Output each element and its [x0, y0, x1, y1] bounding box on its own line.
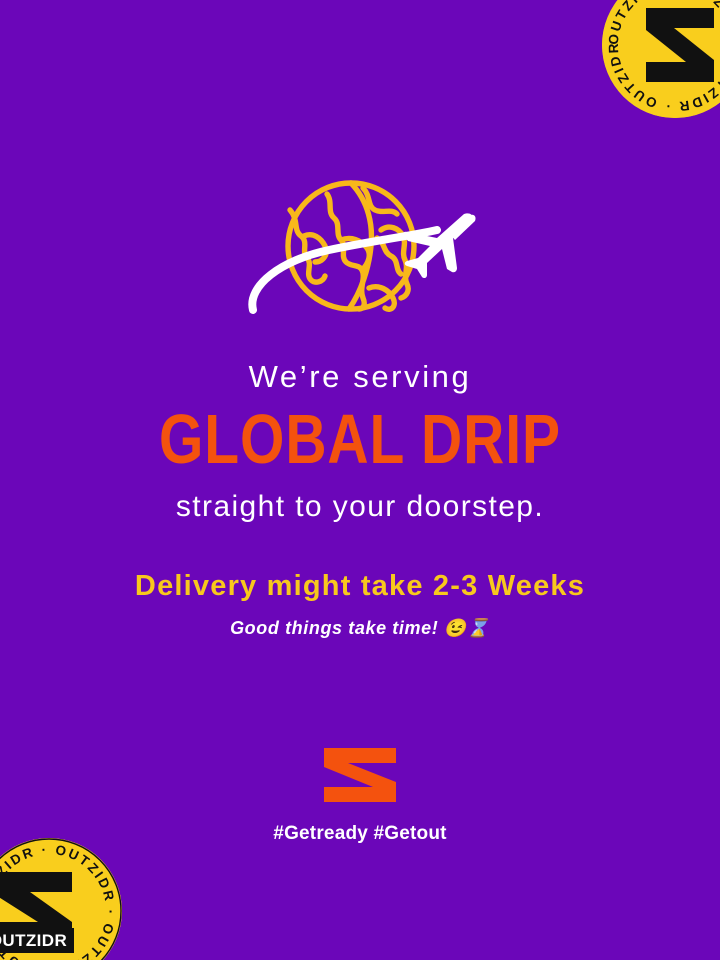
seal-badge-bottom-left: OUTZIDR · OUTZIDR · OUTZIDR · OUTZIDR · … — [0, 838, 122, 960]
subline-text: straight to your doorstep. — [0, 490, 720, 523]
tagline-text: Good things take time! 😉⌛ — [0, 619, 720, 639]
seal-wordmark-label: OUTZIDR — [0, 931, 67, 950]
seal-wordmark-bottom-left: OUTZIDR — [0, 928, 74, 953]
footer-block: #Getready #Getout — [0, 746, 720, 845]
globe-airplane-icon — [241, 176, 479, 338]
hashtags-text: #Getready #Getout — [0, 823, 720, 845]
headline-text: GLOBAL DRIP — [29, 406, 691, 475]
eyebrow-text: We’re serving — [0, 360, 720, 394]
copy-block: We’re serving GLOBAL DRIP straight to yo… — [0, 360, 720, 639]
poster-canvas: OUTZIDR · OUTZIDR · OUTZIDR · OUTZIDR · … — [0, 0, 720, 960]
seal-badge-top-right: OUTZIDR · OUTZIDR · OUTZIDR · OUTZIDR · — [602, 0, 720, 118]
z-logo-icon — [321, 746, 399, 804]
delivery-notice-text: Delivery might take 2-3 Weeks — [0, 571, 720, 603]
